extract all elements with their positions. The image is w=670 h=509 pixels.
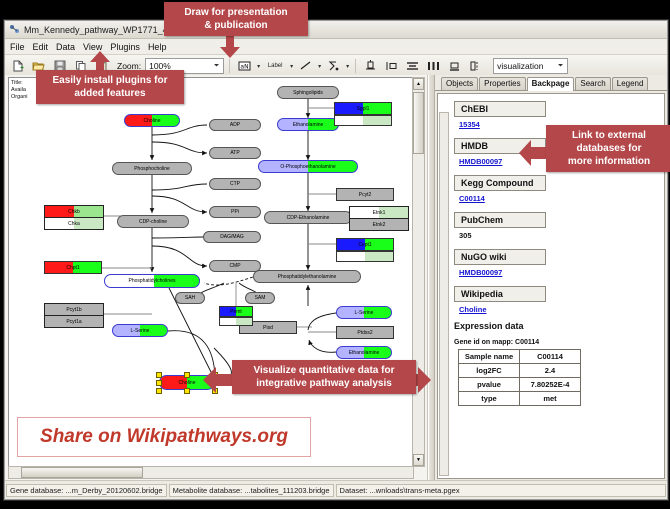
pathway-canvas[interactable]: Title: Availa Organi <box>8 77 414 467</box>
stack-row-label: Chka <box>68 221 80 227</box>
scroll-thumb[interactable] <box>413 92 424 154</box>
node-choline-top[interactable]: Choline <box>124 114 180 127</box>
menu-help[interactable]: Help <box>148 42 167 52</box>
node-sphingolipids[interactable]: Sphingolipids <box>277 86 339 99</box>
callout-line-1: Visualize quantitative data for <box>239 364 409 377</box>
table-cell-value: C00114 <box>520 350 581 364</box>
line-dropdown-arrow[interactable]: ▾ <box>318 63 321 70</box>
table-row: type met <box>459 392 581 406</box>
align-bottom-icon[interactable] <box>445 57 464 76</box>
backpage-scrollbar[interactable] <box>439 112 449 476</box>
node-atp[interactable]: ATP <box>209 147 261 159</box>
node-label: DAG/MAG <box>218 234 246 240</box>
node-cept1[interactable]: Cept1 <box>336 238 394 251</box>
node-l-serine-right[interactable]: L-Serine <box>336 306 392 319</box>
node-label: Pcyt2 <box>357 192 374 198</box>
interaction-tool-icon[interactable] <box>324 57 343 76</box>
tab-backpage[interactable]: Backpage <box>527 77 575 91</box>
stack-row-label: Pcyt1a <box>66 319 81 325</box>
label-tool-text: Label <box>268 63 283 69</box>
callout-draw-for-publication: Draw for presentation & publication <box>164 2 308 36</box>
node-label: Sphingolipids <box>291 90 325 96</box>
callout-draw-arrow-icon <box>218 36 242 58</box>
backpage-link-nugo[interactable]: HMDB00097 <box>459 268 664 277</box>
callout-visualize-left-arrow-icon <box>203 367 235 393</box>
table-cell-value: 7.80252E-4 <box>520 378 581 392</box>
tab-objects[interactable]: Objects <box>441 77 478 90</box>
status-dataset: Dataset: ...wnloads\trans-meta.pgex <box>336 484 666 497</box>
backpage-header-chebi: ChEBI <box>454 101 546 117</box>
callout-line-2: & publication <box>171 19 301 32</box>
node-pcyt2[interactable]: Pcyt2 <box>336 188 394 201</box>
backpage-header-wikipedia: Wikipedia <box>454 286 546 302</box>
group-icon[interactable] <box>466 57 485 76</box>
stack-row[interactable]: Etnk1 <box>350 207 408 218</box>
node-ctp[interactable]: CTP <box>209 178 261 190</box>
share-text: Share on Wikipathways.org <box>40 426 288 448</box>
node-label: CMP <box>227 263 242 269</box>
node-label: ATP <box>228 150 241 156</box>
node-label: SAM <box>253 295 268 301</box>
label-dropdown-arrow[interactable]: ▾ <box>290 63 293 70</box>
node-phosphatidylethanolamine[interactable]: Phosphatidylethanolamine <box>253 270 361 283</box>
gene-id-line: Gene id on mapp: C00114 <box>454 339 664 346</box>
gene-stack-pcyt1[interactable]: Pcyt1b Pcyt1a <box>44 303 104 328</box>
datanode-tool-icon[interactable]: aN <box>235 57 254 76</box>
callout-line-2: added features <box>43 87 177 100</box>
status-gene-database: Gene database: ...m_Derby_20120602.bridg… <box>6 484 167 497</box>
node-sam[interactable]: SAM <box>245 292 275 304</box>
callout-line-3: more information <box>553 155 665 168</box>
stack-row[interactable]: Chkb <box>45 206 103 217</box>
node-ppi[interactable]: PPi <box>209 206 261 218</box>
node-label: Ethanolamine <box>291 122 326 128</box>
node-sah[interactable]: SAH <box>175 292 205 304</box>
node-cdp-ethanolamine[interactable]: CDP-Ethanolamine <box>264 211 352 224</box>
node-label: Phosphatidylcholines <box>127 278 178 284</box>
table-cell-value: met <box>520 392 581 406</box>
table-cell-key: type <box>459 392 520 406</box>
node-phosphocholine[interactable]: Phosphocholine <box>112 162 192 175</box>
window-titlebar: Mm_Kennedy_pathway_WP1771_45176.gpml <box>5 21 667 39</box>
stack-vertical-icon[interactable] <box>403 57 422 76</box>
backpage-header-nugo: NuGO wiki <box>454 249 546 265</box>
callout-install-plugins: Easily install plugins for added feature… <box>36 70 184 104</box>
table-row: Sample name C00114 <box>459 350 581 364</box>
node-adp[interactable]: ADP <box>209 119 261 131</box>
side-panel-tabs: Objects Properties Backpage Search Legen… <box>435 75 667 91</box>
node-label: Phosphocholine <box>132 166 172 172</box>
chevron-down-icon <box>212 61 221 72</box>
node-label: Phosphatidylethanolamine <box>276 274 339 280</box>
node-label: Chpt1 <box>64 265 81 271</box>
node-label: L-Serine <box>353 310 376 316</box>
node-dag-mag[interactable]: DAG/MAG <box>203 231 261 243</box>
toolbar-separator-2 <box>355 59 356 73</box>
table-cell-key: log2FC <box>459 364 520 378</box>
node-label: PPi <box>229 209 241 215</box>
align-left-icon[interactable] <box>382 57 401 76</box>
screenshot-root: Mm_Kennedy_pathway_WP1771_45176.gpml Fil… <box>0 0 670 509</box>
node-label: Pemt <box>228 309 244 315</box>
node-chpt1[interactable]: Chpt1 <box>44 261 102 274</box>
node-cept1-lower[interactable] <box>336 251 394 262</box>
stack-row[interactable]: Pcyt1b <box>45 304 103 315</box>
menu-plugins[interactable]: Plugins <box>110 42 140 52</box>
node-label: Ethanolamine <box>347 350 382 356</box>
node-label: Cept1 <box>356 242 373 248</box>
align-top-icon[interactable] <box>361 57 380 76</box>
node-label: O-Phosphoethanolamine <box>278 164 337 170</box>
node-label: CDP-choline <box>137 219 169 225</box>
datanode-dropdown-arrow[interactable]: ▾ <box>257 63 260 70</box>
scroll-up-arrow[interactable]: ▲ <box>413 78 424 90</box>
callout-external-arrow-icon <box>519 140 549 166</box>
distribute-horizontal-icon[interactable] <box>424 57 443 76</box>
callout-line-2: integrative pathway analysis <box>239 377 409 390</box>
node-label: Choline <box>177 380 198 386</box>
node-label: CDP-Ethanolamine <box>285 215 332 221</box>
statusbar: Gene database: ...m_Derby_20120602.bridg… <box>5 480 667 499</box>
gene-stack-chk[interactable]: Chkb Chka <box>44 205 104 230</box>
tab-legend[interactable]: Legend <box>612 77 649 90</box>
panel-splitter[interactable] <box>428 75 435 481</box>
backpage-link-wikipedia[interactable]: Choline <box>459 305 664 314</box>
stack-row[interactable]: Pcyt1a <box>45 315 103 327</box>
node-phosphatidylcholines[interactable]: Phosphatidylcholines <box>104 274 200 288</box>
node-label: Ptdss2 <box>355 330 374 336</box>
tab-search[interactable]: Search <box>575 77 610 90</box>
app-icon <box>9 24 20 35</box>
table-cell-key: pvalue <box>459 378 520 392</box>
node-label: Sgpl1 <box>355 106 372 112</box>
node-label: Pisd <box>261 325 275 331</box>
interaction-dropdown-arrow[interactable]: ▾ <box>346 63 349 70</box>
node-label: CTP <box>228 181 242 187</box>
svg-text:aN: aN <box>241 64 249 71</box>
stack-row-label: Pcyt1b <box>66 307 81 313</box>
visualization-combobox[interactable]: visualization <box>493 58 568 74</box>
gene-stack-etnk[interactable]: Etnk1 Etnk2 <box>349 206 409 231</box>
scroll-down-arrow[interactable]: ▼ <box>413 454 424 466</box>
menu-file[interactable]: File <box>10 42 25 52</box>
stack-row-label: Etnk1 <box>373 210 386 216</box>
node-label: L-Serine <box>129 328 152 334</box>
expression-data-table: Sample name C00114 log2FC 2.4 pvalue 7.8… <box>458 349 581 406</box>
toolbar-separator <box>229 59 230 73</box>
node-pemt-lower[interactable] <box>219 317 253 326</box>
table-cell-key: Sample name <box>459 350 520 364</box>
callout-line-2: databases for <box>553 142 665 155</box>
stack-row-label: Etnk2 <box>373 222 386 228</box>
backpage-header-kegg: Kegg Compound <box>454 175 546 191</box>
stack-row[interactable]: Etnk2 <box>350 218 408 230</box>
node-sgpl1[interactable]: Sgpl1 <box>334 102 392 115</box>
node-o-phosphoethanolamine[interactable]: O-Phosphoethanolamine <box>258 160 358 173</box>
node-ethanolamine[interactable]: Ethanolamine <box>277 118 339 131</box>
node-label: Choline <box>142 118 163 124</box>
node-label: SAH <box>183 295 197 301</box>
backpage-header-pubchem: PubChem <box>454 212 546 228</box>
stack-row-label: Chkb <box>68 209 80 215</box>
node-ptdss2[interactable]: Ptdss2 <box>336 326 394 339</box>
table-row: pvalue 7.80252E-4 <box>459 378 581 392</box>
menu-edit[interactable]: Edit <box>33 42 49 52</box>
expression-data-title: Expression data <box>454 321 664 331</box>
node-cmp[interactable]: CMP <box>209 260 261 272</box>
node-cdp-choline[interactable]: CDP-choline <box>117 215 189 228</box>
node-sgpl1-lower[interactable] <box>334 115 392 126</box>
visualization-value: visualization <box>497 61 543 71</box>
callout-line-1: Draw for presentation <box>171 6 301 19</box>
canvas-horizontal-scrollbar[interactable] <box>8 466 414 479</box>
node-pemt[interactable]: Pemt <box>219 306 253 317</box>
callout-share-wikipathways: Share on Wikipathways.org <box>17 417 311 457</box>
backpage-value-pubchem: 305 <box>459 231 664 240</box>
line-tool-icon[interactable] <box>296 57 315 76</box>
chevron-down-icon-viz <box>556 61 565 72</box>
menu-data[interactable]: Data <box>56 42 75 52</box>
node-l-serine-left[interactable]: L-Serine <box>112 324 168 337</box>
node-ethanolamine-bottom[interactable]: Ethanolamine <box>336 346 392 359</box>
new-file-icon[interactable] <box>8 57 27 76</box>
status-metabolite-database: Metabolite database: ...tabolites_111203… <box>169 484 334 497</box>
callout-line-1: Easily install plugins for <box>43 74 177 87</box>
scroll-thumb-h[interactable] <box>21 467 143 478</box>
node-label: ADP <box>228 122 242 128</box>
table-row: log2FC 2.4 <box>459 364 581 378</box>
backpage-link-kegg[interactable]: C00114 <box>459 194 664 203</box>
callout-external-databases: Link to external databases for more info… <box>546 125 670 172</box>
label-tool-button[interactable]: Label <box>263 57 287 76</box>
table-cell-value: 2.4 <box>520 364 581 378</box>
tab-properties[interactable]: Properties <box>479 77 525 90</box>
canvas-vertical-scrollbar[interactable]: ▲ ▼ <box>412 77 425 467</box>
stack-row[interactable]: Chka <box>45 217 103 229</box>
callout-visualize-data: Visualize quantitative data for integrat… <box>232 360 416 394</box>
callout-line-1: Link to external <box>553 129 665 142</box>
